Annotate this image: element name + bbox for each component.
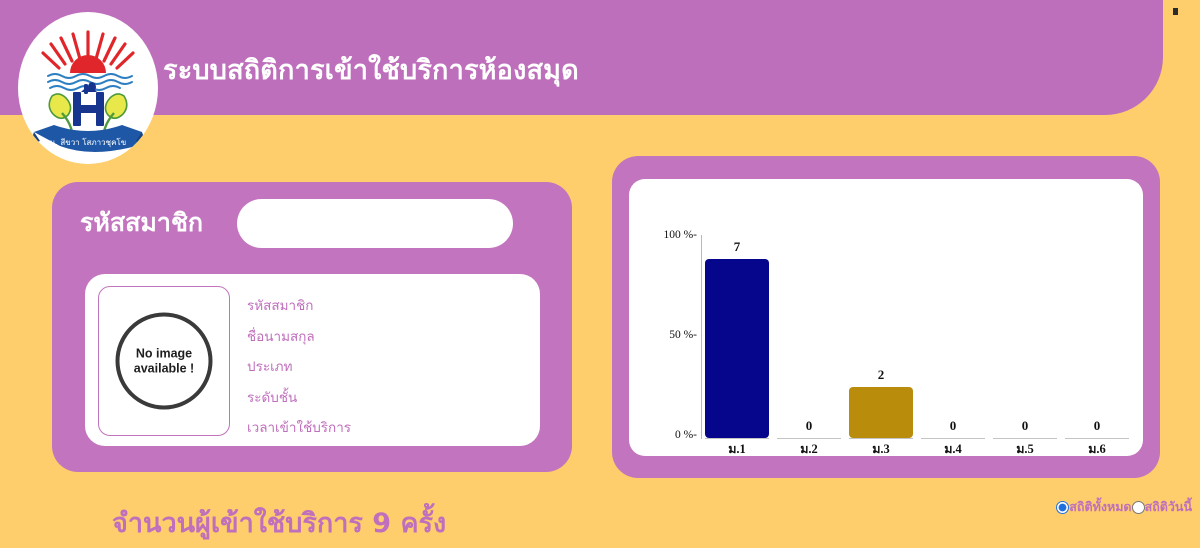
bar-value-label: 0	[950, 418, 957, 434]
bar-value-label: 7	[734, 239, 741, 255]
svg-text:น. สีขวา โสภาวชุคโข: น. สีขวา โสภาวชุคโข	[50, 137, 126, 147]
radio-all-statistics[interactable]	[1056, 501, 1069, 514]
field-label: รหัสสมาชิก	[247, 294, 313, 316]
x-axis-tick-label: ม.2	[800, 439, 818, 459]
y-tick-0: 0 %-	[675, 429, 697, 441]
chart-column: 2ม.3	[845, 235, 917, 439]
chart-bar	[849, 387, 913, 438]
school-emblem-logo: น. สีขวา โสภาวชุคโข	[18, 12, 158, 164]
field-label: ประเภท	[247, 355, 292, 377]
bar-value-label: 0	[806, 418, 813, 434]
chart-column: 0ม.5	[989, 235, 1061, 439]
member-photo-box: No image available !	[98, 286, 230, 436]
bar-value-label: 2	[878, 367, 885, 383]
member-id-label: รหัสสมาชิก	[80, 203, 203, 243]
y-axis: 100 %- 50 %- 0 %-	[635, 179, 697, 456]
statistics-chart-panel: 100 %- 50 %- 0 %- 7ม.10ม.22ม.30ม.40ม.50ม…	[612, 156, 1160, 478]
field-row-visit-time: เวลาเข้าใช้บริการ	[247, 412, 527, 443]
bar-value-label: 0	[1094, 418, 1101, 434]
x-axis-tick-label: ม.6	[1088, 439, 1106, 459]
x-axis-tick-label: ม.3	[872, 439, 890, 459]
x-axis-tick-label: ม.1	[728, 439, 746, 459]
bar-value-label: 0	[1022, 418, 1029, 434]
bar-chart: 100 %- 50 %- 0 %- 7ม.10ม.22ม.30ม.40ม.50ม…	[629, 179, 1143, 456]
radio-today-statistics[interactable]	[1132, 501, 1145, 514]
field-row-fullname: ชื่อนามสกุล	[247, 321, 527, 352]
member-field-list: รหัสสมาชิก ชื่อนามสกุล ประเภท ระดับชั้น …	[247, 290, 527, 443]
member-info-card: No image available ! รหัสสมาชิก ชื่อนามส…	[85, 274, 540, 446]
visit-count-summary: จำนวนผู้เข้าใช้บริการ 9 ครั้ง	[112, 501, 446, 544]
field-row-member-id: รหัสสมาชิก	[247, 290, 527, 321]
chart-column: 0ม.6	[1061, 235, 1133, 439]
radio-item-today[interactable]: สถิติวันนี้	[1132, 497, 1192, 517]
member-id-row: รหัสสมาชิก	[52, 182, 572, 264]
x-axis-tick-label: ม.4	[944, 439, 962, 459]
y-tick-100: 100 %-	[663, 229, 697, 241]
radio-all-statistics-label[interactable]: สถิติทั้งหมด	[1069, 497, 1131, 517]
page-title: ระบบสถิติการเข้าใช้บริการห้องสมุด	[163, 48, 579, 91]
field-row-grade: ระดับชั้น	[247, 382, 527, 413]
chart-column: 0ม.2	[773, 235, 845, 439]
chart-column: 0ม.4	[917, 235, 989, 439]
plot-area: 7ม.10ม.22ม.30ม.40ม.50ม.6	[701, 235, 1133, 439]
chart-column: 7ม.1	[701, 235, 773, 439]
radio-today-statistics-label[interactable]: สถิติวันนี้	[1145, 497, 1192, 517]
no-image-line2: available !	[134, 361, 194, 375]
field-label: ชื่อนามสกุล	[247, 325, 315, 347]
chart-bar	[705, 259, 769, 438]
statistics-scope-radio-group: สถิติทั้งหมด สถิติวันนี้	[1056, 497, 1192, 517]
chart-card: 100 %- 50 %- 0 %- 7ม.10ม.22ม.30ม.40ม.50ม…	[629, 179, 1143, 456]
no-image-icon: No image available !	[116, 313, 213, 410]
field-label: เวลาเข้าใช้บริการ	[247, 416, 351, 438]
no-image-line1: No image	[136, 347, 192, 361]
member-lookup-panel: รหัสสมาชิก No image available ! รหัสสมาช…	[52, 182, 572, 472]
member-id-input[interactable]	[237, 199, 513, 248]
field-label: ระดับชั้น	[247, 386, 297, 408]
x-axis-tick-label: ม.5	[1016, 439, 1034, 459]
field-row-type: ประเภท	[247, 351, 527, 382]
y-tick-50: 50 %-	[669, 329, 697, 341]
radio-item-all[interactable]: สถิติทั้งหมด	[1056, 497, 1131, 517]
corner-marker-dot	[1173, 8, 1178, 15]
